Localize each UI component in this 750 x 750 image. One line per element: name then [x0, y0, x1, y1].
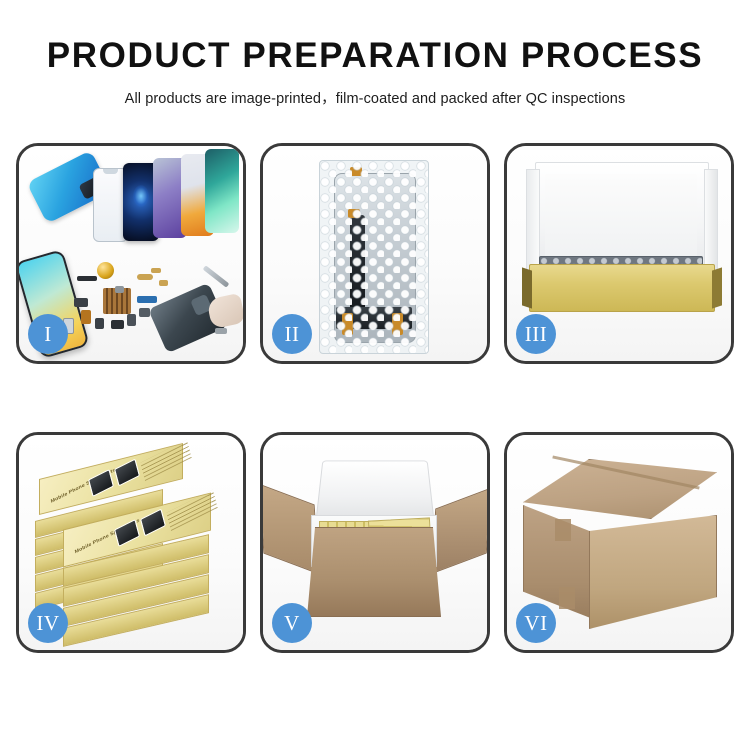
spare-part [151, 268, 161, 273]
page-title: PRODUCT PREPARATION PROCESS [0, 38, 750, 75]
adhesive-tape-part [350, 167, 362, 176]
adhesive-tape-part [342, 313, 353, 335]
spare-part [111, 320, 124, 329]
step-badge-2: II [272, 314, 312, 354]
spare-part [215, 328, 227, 334]
spare-part [159, 280, 168, 286]
spare-part [137, 296, 157, 303]
bubble-wrap-bag-image [319, 160, 429, 354]
step-badge-1: I [28, 314, 68, 354]
teal-phone-image [205, 149, 239, 233]
step-badge-6: VI [516, 603, 556, 643]
spare-part [127, 314, 136, 326]
process-step-panel-1: I [16, 143, 246, 364]
outer-carton-image [307, 527, 441, 617]
adhesive-tape-part [392, 313, 403, 335]
process-step-panel-6: VI [504, 432, 734, 653]
step-badge-3: III [516, 314, 556, 354]
box-spec-lines [140, 440, 191, 481]
step-badge-5: V [272, 603, 312, 643]
process-step-panel-3: III [504, 143, 734, 364]
screen-assembly-image [334, 173, 416, 343]
process-step-panel-5: V [260, 432, 490, 653]
connector-strip-part [336, 307, 412, 329]
spare-part [81, 310, 91, 324]
spare-part [115, 286, 124, 293]
spare-part [74, 298, 88, 307]
carton-tape [559, 587, 575, 609]
page-subtitle: All products are image-printed，film-coat… [0, 87, 750, 108]
carton-tape [555, 519, 571, 541]
carton-right-face [589, 515, 717, 629]
spare-part [77, 276, 97, 281]
spare-part [95, 318, 104, 329]
step-badge-4: IV [28, 603, 68, 643]
process-step-panel-4: Mobile Phone Spare Parts Mobile Phone Sp… [16, 432, 246, 653]
box-window-graphic [114, 519, 140, 547]
camera-module-part [97, 262, 114, 279]
page-header: PRODUCT PREPARATION PROCESS All products… [0, 0, 750, 108]
process-step-panel-2: II [260, 143, 490, 364]
carton-flap-right [431, 488, 490, 575]
box-window-graphic [140, 509, 166, 537]
carton-top-face [523, 459, 717, 519]
spare-part [137, 274, 153, 280]
box-window-graphic [114, 459, 140, 487]
adhesive-tape-part [348, 209, 360, 218]
process-steps-grid: I II III [16, 143, 734, 653]
yellow-box-base-image [529, 264, 715, 312]
flex-cable-part [350, 215, 365, 319]
spare-part [139, 308, 150, 317]
box-spec-lines [166, 490, 217, 531]
box-window-graphic [88, 469, 114, 497]
